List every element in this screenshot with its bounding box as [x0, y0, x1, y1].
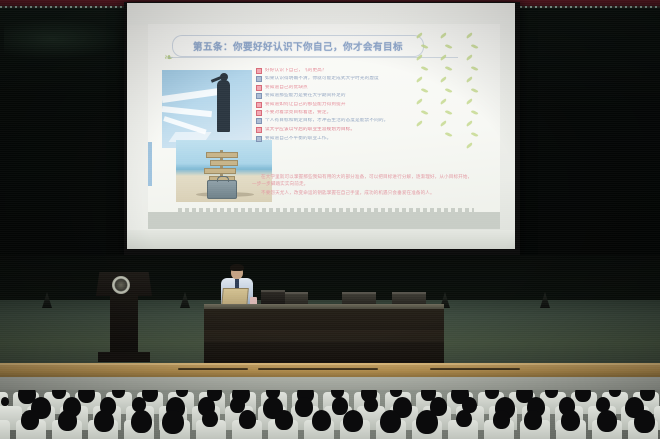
audience-head: [634, 410, 655, 434]
slide-side-accent: [148, 142, 152, 186]
lectern-body: [110, 294, 138, 356]
slide-skyline-footer: [148, 212, 500, 229]
audience-head: [1, 397, 9, 406]
bullet-marker-icon: [256, 136, 262, 142]
bullet-marker-icon: [256, 68, 262, 74]
audience-head: [202, 410, 218, 428]
slide-title-band: 第五条：你要好好认识下你自己，你才会有目标: [172, 35, 424, 57]
audience-head: [162, 410, 184, 435]
slide-bullet-item: 要知道自己不平衡的职业工作。: [256, 136, 472, 142]
image-silhouette-binoculars: [162, 70, 252, 148]
audience-head: [21, 410, 39, 430]
lectern-base: [98, 352, 150, 362]
slide-title: 第五条：你要好好认识下你自己，你才会有目标: [193, 39, 403, 53]
audience-head: [78, 390, 95, 403]
audience-head: [561, 410, 580, 431]
audience-head: [312, 410, 331, 431]
suitcase: [207, 180, 237, 199]
audience-head: [456, 410, 472, 428]
silhouette-figure: [217, 80, 230, 132]
audience-head: [416, 410, 438, 435]
audience-head: [524, 410, 542, 430]
bullet-text: 要知道自己的优缺点: [265, 85, 308, 91]
bullet-text: 个人有目标和制定目标，才冲击生活的态度是能禁不同的。: [265, 118, 388, 124]
slide-bullet-item: 要知道自己的优缺点: [256, 85, 472, 91]
wall-light-glow: [4, 18, 124, 60]
bullet-text: 要知道自己不平衡的职业工作。: [265, 136, 331, 142]
bullet-marker-icon: [256, 76, 262, 82]
slide-bullet-item: 读大学应该以今后的职业生涯规划为目标。: [256, 127, 472, 133]
bullet-marker-icon: [256, 85, 262, 91]
presenter-hair: [230, 264, 244, 271]
bullet-marker-icon: [256, 102, 262, 108]
audience-seating: [0, 390, 660, 439]
slide-paragraph: 在大学里就可以掌握那些我知有用的大的部分准备，可以把目标进行分解，逐渐理好，从小…: [252, 174, 474, 199]
presentation-slide: ❧ 第五条：你要好好认识下你自己，你才会有目标 好好认识下自己，飞的更高？如果认…: [148, 24, 500, 229]
lecture-hall-scene: ❧ 第五条：你要好好认识下你自己，你才会有目标 好好认识下自己，飞的更高？如果认…: [0, 0, 660, 439]
screen-top-margin: [127, 3, 515, 25]
bullet-marker-icon: [256, 118, 262, 124]
audience-head: [640, 390, 655, 401]
audience-head: [94, 410, 114, 432]
paragraph-line: 不要怨天尤人，改变命运的钥匙掌握在自己手里，成功的机遇只会垂爱在准备的人。: [252, 190, 474, 197]
screen-bottom-band: [127, 230, 515, 249]
floor-cable: [178, 368, 248, 370]
audience-head: [343, 410, 363, 432]
audience-head: [131, 410, 152, 434]
audience-head: [364, 397, 378, 413]
bullet-text: 如果认识得明确不清，你就可能走成式大学时光的虚度: [265, 76, 379, 82]
bullet-marker-icon: [256, 127, 262, 133]
audience-head: [239, 410, 256, 429]
floor-cable: [430, 368, 520, 370]
bullet-text: 要知道如何让自己的那些能力得到提升: [265, 102, 346, 108]
paragraph-line: 在大学里就可以掌握那些我知有用的大的部分准备，可以把目标进行分解，逐渐理好，从小…: [252, 174, 474, 188]
floor-cable: [258, 368, 378, 370]
bullet-text: 不要对着漂亮目标着迷，要定。: [265, 110, 331, 116]
lectern-emblem-icon: [112, 276, 130, 294]
table-skirt: [204, 330, 444, 342]
slide-bullet-item: 不要对着漂亮目标着迷，要定。: [256, 110, 472, 116]
bullet-marker-icon: [256, 93, 262, 99]
slide-bullet-item: 如果认识得明确不清，你就可能走成式大学时光的虚度: [256, 76, 472, 82]
audience-seat: [0, 420, 10, 439]
audience-head: [295, 397, 313, 417]
audience-head: [380, 410, 401, 434]
audience-head: [575, 390, 591, 402]
slide-bullet-item: 要知道那些能力是要在大学期间补足的: [256, 93, 472, 99]
slide-bullet-item: 要知道如何让自己的那些能力得到提升: [256, 102, 472, 108]
bullet-text: 好好认识下自己，飞的更高？: [265, 68, 327, 74]
audience-head: [493, 410, 510, 429]
slide-bullet-list: 好好认识下自己，飞的更高？如果认识得明确不清，你就可能走成式大学时光的虚度要知道…: [256, 68, 472, 144]
slide-bullet-item: 个人有目标和制定目标，才冲击生活的态度是能禁不同的。: [256, 118, 472, 124]
bullet-text: 读大学应该以今后的职业生涯规划为目标。: [265, 127, 355, 133]
bullet-text: 要知道那些能力是要在大学期间补足的: [265, 93, 346, 99]
audience-head: [597, 410, 617, 432]
audience-head: [275, 410, 293, 430]
bullet-marker-icon: [256, 110, 262, 116]
audience-head: [58, 410, 77, 431]
slide-bullet-item: 好好认识下自己，飞的更高？: [256, 68, 472, 74]
